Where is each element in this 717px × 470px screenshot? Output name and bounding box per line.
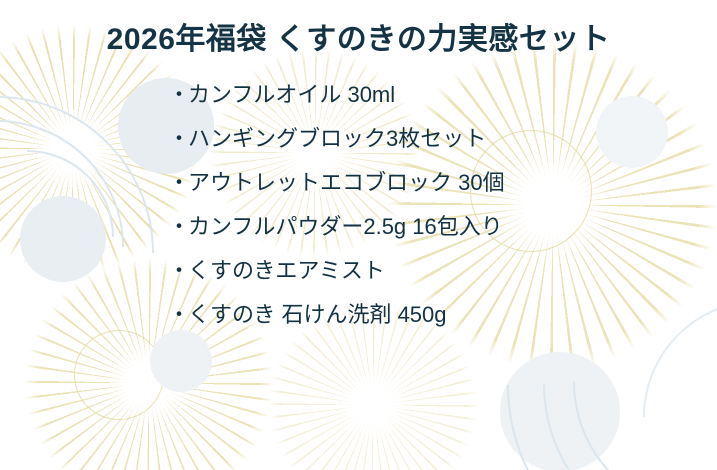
list-item: ・ ハンギングブロック3枚セット <box>168 128 486 150</box>
page-title: 2026年福袋 くすのきの力実感セット <box>0 22 717 58</box>
list-item: ・ くすのき 石けん洗剤 450g <box>168 304 447 326</box>
bullet-icon: ・ <box>168 84 188 106</box>
list-item: ・ カンフルパウダー2.5g 16包入り <box>168 216 503 238</box>
bullet-icon: ・ <box>168 216 188 238</box>
product-list: ・ カンフルオイル 30ml ・ ハンギングブロック3枚セット ・ アウトレット… <box>0 84 717 348</box>
list-item-label: くすのきエアミスト <box>188 260 385 282</box>
bullet-icon: ・ <box>168 304 188 326</box>
bullet-icon: ・ <box>168 172 188 194</box>
bullet-icon: ・ <box>168 260 188 282</box>
list-item: ・ カンフルオイル 30ml <box>168 84 395 106</box>
list-item-label: アウトレットエコブロック 30個 <box>188 172 505 194</box>
promo-poster: 2026年福袋 くすのきの力実感セット ・ カンフルオイル 30ml ・ ハンギ… <box>0 0 717 470</box>
bullet-icon: ・ <box>168 128 188 150</box>
list-item: ・ アウトレットエコブロック 30個 <box>168 172 505 194</box>
list-item-label: カンフルオイル 30ml <box>188 84 395 106</box>
list-item: ・ くすのきエアミスト <box>168 260 385 282</box>
list-item-label: くすのき 石けん洗剤 450g <box>188 304 447 326</box>
poster-content: 2026年福袋 くすのきの力実感セット ・ カンフルオイル 30ml ・ ハンギ… <box>0 0 717 470</box>
list-item-label: ハンギングブロック3枚セット <box>188 128 486 150</box>
list-item-label: カンフルパウダー2.5g 16包入り <box>188 216 503 238</box>
